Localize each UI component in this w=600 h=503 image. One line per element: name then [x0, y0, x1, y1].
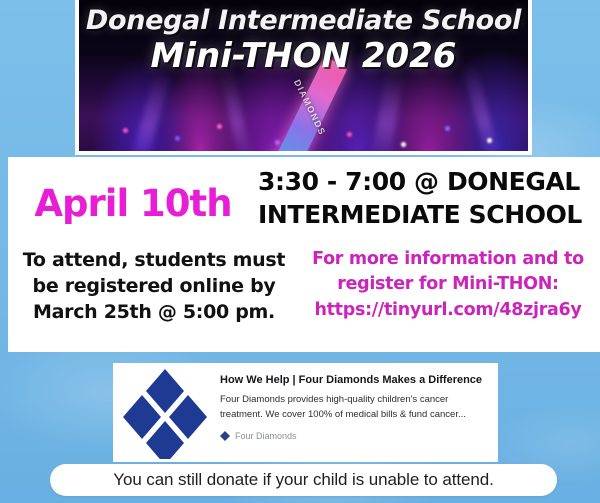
- stage-light-dot-icon: [275, 140, 280, 145]
- donate-note-text: You can still donate if your child is un…: [113, 470, 493, 490]
- event-info-panel: April 10th 3:30 - 7:00 @ DONEGAL INTERME…: [8, 157, 600, 352]
- registration-line-3: March 25th @ 5:00 pm.: [8, 299, 300, 325]
- diamond-bullet-icon: [220, 431, 230, 441]
- event-time-line: 3:30 - 7:00 @ DONEGAL: [258, 165, 592, 198]
- hero-title-block: Donegal Intermediate School Mini-THON 20…: [79, 6, 528, 76]
- event-date-time-row: April 10th 3:30 - 7:00 @ DONEGAL INTERME…: [8, 157, 600, 231]
- link-card-description-line-1: Four Diamonds provides high-quality chil…: [220, 393, 488, 407]
- hero-title-line2: Mini-THON 2026: [79, 37, 528, 76]
- four-diamonds-link-card[interactable]: How We Help | Four Diamonds Makes a Diff…: [113, 363, 498, 462]
- more-information-block: For more information and to register for…: [300, 247, 600, 323]
- link-card-source-name: Four Diamonds: [235, 431, 297, 441]
- hero-image: DIAMONDS Donegal Intermediate School Min…: [75, 0, 532, 155]
- hero-title-line1: Donegal Intermediate School: [79, 6, 528, 36]
- stage-light-dot-icon: [401, 142, 406, 147]
- stage-light-dot-icon: [217, 124, 222, 129]
- event-time-location: 3:30 - 7:00 @ DONEGAL INTERMEDIATE SCHOO…: [258, 165, 600, 231]
- more-info-line-2: register for Mini-THON:: [300, 272, 596, 297]
- link-card-description-line-2: treatment. We cover 100% of medical bill…: [220, 408, 488, 422]
- event-registration-row: To attend, students must be registered o…: [8, 247, 600, 326]
- stage-light-dot-icon: [445, 126, 450, 131]
- stage-light-dot-icon: [347, 132, 352, 137]
- registration-line-1: To attend, students must: [8, 247, 300, 273]
- link-card-title: How We Help | Four Diamonds Makes a Diff…: [220, 374, 488, 387]
- donate-note-banner: You can still donate if your child is un…: [50, 464, 557, 496]
- event-date: April 10th: [8, 165, 258, 225]
- link-card-body: How We Help | Four Diamonds Makes a Diff…: [216, 363, 498, 462]
- registration-url-link[interactable]: https://tinyurl.com/48zjra6y: [300, 298, 596, 323]
- four-diamonds-logo-icon: [113, 363, 216, 462]
- event-location-line: INTERMEDIATE SCHOOL: [258, 198, 592, 231]
- registration-instructions: To attend, students must be registered o…: [8, 247, 300, 326]
- stage-light-dot-icon: [123, 128, 128, 133]
- stage-light-dot-icon: [175, 136, 180, 141]
- stage-light-dot-icon: [487, 138, 492, 143]
- registration-line-2: be registered online by: [8, 273, 300, 299]
- link-card-source: Four Diamonds: [220, 431, 488, 441]
- more-info-line-1: For more information and to: [300, 247, 596, 272]
- link-card-description: Four Diamonds provides high-quality chil…: [220, 393, 488, 422]
